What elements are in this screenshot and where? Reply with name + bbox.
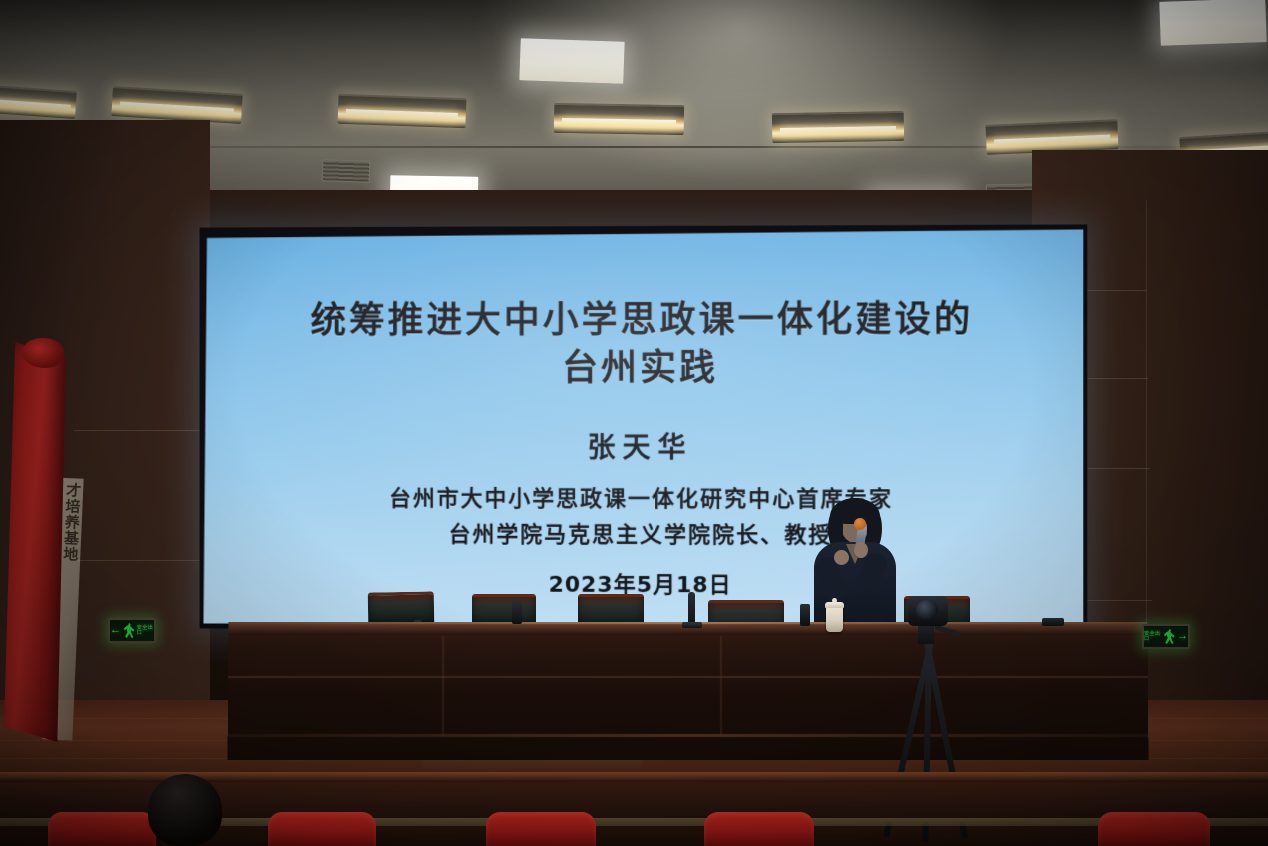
table-rail <box>228 676 1148 678</box>
ceiling-light <box>0 85 77 119</box>
exit-sign-right: 安全出口 → <box>1142 624 1190 649</box>
arrow-right-icon: → <box>1177 631 1188 642</box>
table-panel-seam <box>442 636 444 736</box>
desk-object <box>800 604 810 626</box>
theater-seat <box>268 812 376 846</box>
running-man-icon <box>123 623 135 638</box>
lecture-hall-photo: 统筹推进大中小学思政课一体化建设的 台州实践 张天华 台州市大中小学思政课一体化… <box>0 0 1268 846</box>
exit-sign-label: 安全出口 <box>1144 632 1161 642</box>
chair <box>368 591 435 624</box>
slide-author: 张天华 <box>588 426 693 466</box>
teacup-knob <box>832 598 837 603</box>
ceiling-panel-light <box>519 38 624 84</box>
exit-sign-label: 安全出口 <box>137 626 154 636</box>
slide-title: 统筹推进大中小学思政课一体化建设的 台州实践 <box>238 296 1047 392</box>
theater-seat <box>1098 812 1210 846</box>
microphone-base <box>682 622 702 628</box>
running-man-icon <box>1163 629 1175 644</box>
ceiling-glare <box>480 0 1000 180</box>
presentation-slide: 统筹推进大中小学思政课一体化建设的 台州实践 张天华 台州市大中小学思政课一体化… <box>203 229 1083 626</box>
exit-sign-left: ← 安全出口 <box>108 618 156 643</box>
curtain-knot <box>22 338 64 368</box>
ceiling-panel-light <box>1159 0 1266 46</box>
table-panel-seam <box>720 636 722 736</box>
table-base-rail <box>228 734 1148 737</box>
desk-object <box>512 600 522 624</box>
ceiling-light <box>554 103 685 135</box>
teacup <box>826 606 843 632</box>
air-vent <box>322 159 371 183</box>
presenter-right-hand <box>854 542 868 558</box>
microphone-stand <box>688 592 695 626</box>
ceiling-light <box>772 111 905 143</box>
audience-head <box>148 774 222 846</box>
tripod-pan-handle <box>934 625 960 637</box>
projection-screen: 统筹推进大中小学思政课一体化建设的 台州实践 张天华 台州市大中小学思政课一体化… <box>200 224 1088 631</box>
camera-lens <box>916 600 938 620</box>
theater-seat <box>704 812 814 846</box>
ceiling-light <box>338 94 467 128</box>
arrow-left-icon: ← <box>110 625 121 636</box>
conference-table <box>228 622 1149 760</box>
screen-surface: 统筹推进大中小学思政课一体化建设的 台州实践 张天华 台州市大中小学思政课一体化… <box>203 229 1083 626</box>
desk-object <box>1042 618 1064 626</box>
theater-seat <box>48 812 156 846</box>
tripod-head <box>918 624 934 644</box>
theater-seat <box>486 812 596 846</box>
wall-panel-seam <box>74 430 210 431</box>
wall-panel-seam <box>74 560 210 561</box>
presenter-left-hand <box>834 550 849 565</box>
